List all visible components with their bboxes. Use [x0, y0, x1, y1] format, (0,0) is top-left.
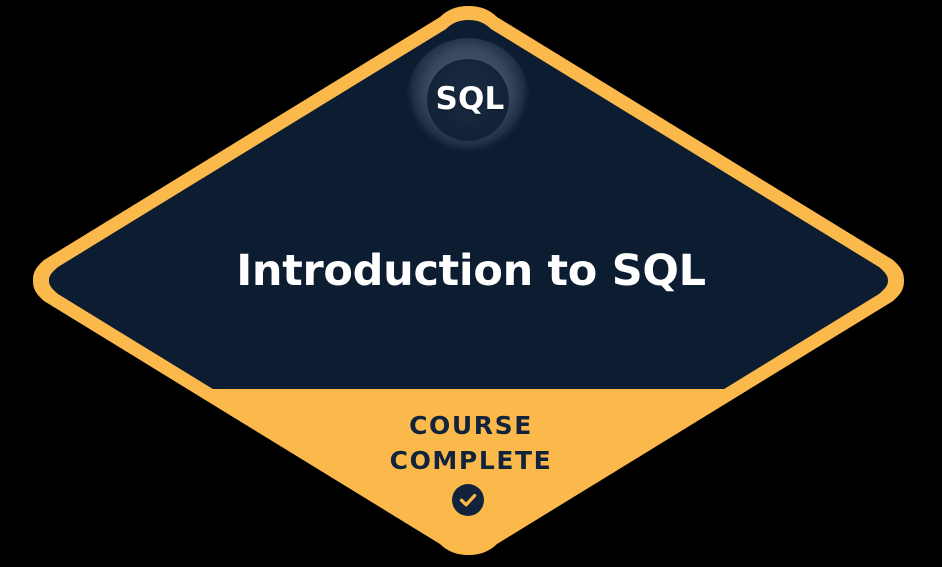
completion-status-line-1: COURSE: [0, 408, 942, 443]
course-completion-badge: SQL Introduction to SQL COURSE COMPLETE: [0, 0, 942, 567]
completion-status-line-2: COMPLETE: [0, 443, 942, 478]
course-title: Introduction to SQL: [0, 245, 942, 297]
completion-status: COURSE COMPLETE: [0, 408, 942, 478]
sql-emblem-label: SQL: [0, 76, 941, 122]
check-circle-icon: [452, 484, 484, 516]
